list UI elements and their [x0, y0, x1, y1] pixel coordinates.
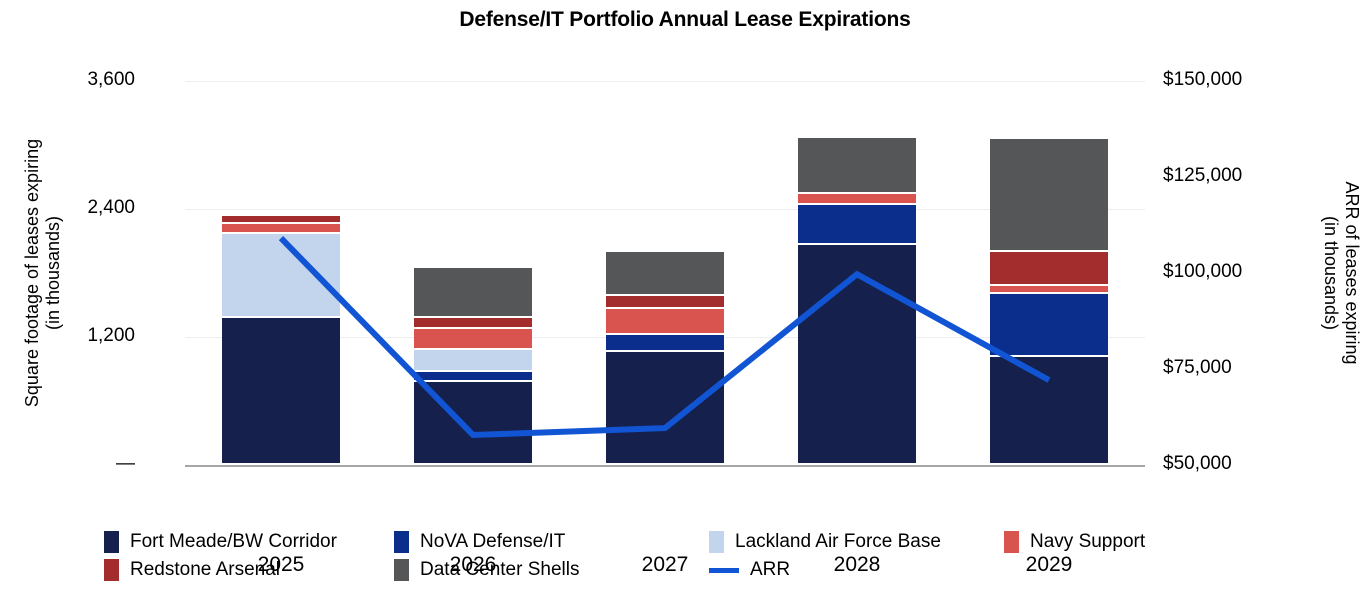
- legend-item[interactable]: Fort Meade/BW Corridor: [104, 528, 337, 556]
- legend-swatch-icon: [394, 559, 409, 581]
- y-axis-right-tick-label: $75,000: [1163, 357, 1303, 379]
- bar-group[interactable]: [990, 81, 1108, 465]
- bar-segment[interactable]: [414, 372, 532, 380]
- legend-row: Redstone ArsenalData Center ShellsARR: [104, 556, 1284, 584]
- bar-segment[interactable]: [222, 234, 340, 316]
- y-axis-left-title: Square footage of leases expiring(in tho…: [22, 123, 64, 423]
- legend-item-label: NoVA Defense/IT: [420, 531, 565, 553]
- x-axis-line: [185, 465, 1145, 467]
- legend-item[interactable]: Lackland Air Force Base: [709, 528, 941, 556]
- y-axis-right-tick-label: $50,000: [1163, 453, 1303, 475]
- bar-segment[interactable]: [798, 205, 916, 243]
- legend-line-icon: [709, 568, 739, 573]
- legend-item-label: Fort Meade/BW Corridor: [130, 531, 337, 553]
- bar-segment[interactable]: [990, 357, 1108, 463]
- bar-segment[interactable]: [414, 382, 532, 463]
- y-axis-right-title: ARR of leases expiring(in thousands): [1320, 123, 1362, 423]
- bar-segment[interactable]: [222, 216, 340, 222]
- bar-segment[interactable]: [798, 194, 916, 203]
- y-axis-left-tick-label: —: [15, 453, 135, 475]
- bar-segment[interactable]: [990, 286, 1108, 292]
- bar-segment[interactable]: [990, 252, 1108, 284]
- bar-segment[interactable]: [414, 318, 532, 327]
- legend-swatch-icon: [104, 559, 119, 581]
- legend-swatch-icon: [104, 531, 119, 553]
- legend-item-label: ARR: [750, 559, 790, 581]
- bar-segment[interactable]: [222, 224, 340, 232]
- legend-item-label: Data Center Shells: [420, 559, 579, 581]
- y-axis-left-tick-label: 3,600: [15, 69, 135, 91]
- bar-group[interactable]: [222, 81, 340, 465]
- legend-swatch-icon: [394, 531, 409, 553]
- bar-segment[interactable]: [414, 268, 532, 316]
- y-axis-right-tick-label: $125,000: [1163, 165, 1303, 187]
- bar-segment[interactable]: [606, 296, 724, 307]
- bar-group[interactable]: [798, 81, 916, 465]
- legend-row: Fort Meade/BW CorridorNoVA Defense/ITLac…: [104, 528, 1284, 556]
- bar-segment[interactable]: [990, 139, 1108, 250]
- y-axis-left-tick-label: 2,400: [15, 197, 135, 219]
- legend-item-label: Navy Support: [1030, 531, 1145, 553]
- legend-item[interactable]: Data Center Shells: [394, 556, 579, 584]
- legend-swatch-icon: [709, 531, 724, 553]
- bar-segment[interactable]: [414, 350, 532, 370]
- bar-segment[interactable]: [606, 352, 724, 463]
- bar-segment[interactable]: [606, 252, 724, 294]
- legend-swatch-icon: [1004, 531, 1019, 553]
- legend-item[interactable]: NoVA Defense/IT: [394, 528, 565, 556]
- bar-segment[interactable]: [414, 329, 532, 348]
- bar-group[interactable]: [414, 81, 532, 465]
- y-axis-right-tick-label: $150,000: [1163, 69, 1303, 91]
- bar-segment[interactable]: [990, 294, 1108, 355]
- y-axis-right-tick-label: $100,000: [1163, 261, 1303, 283]
- y-axis-left-tick-label: 1,200: [15, 325, 135, 347]
- legend-item-label: Redstone Arsenal: [130, 559, 280, 581]
- legend-item-label: Lackland Air Force Base: [735, 531, 941, 553]
- chart-canvas: Defense/IT Portfolio Annual Lease Expira…: [0, 0, 1370, 590]
- bar-segment[interactable]: [606, 335, 724, 350]
- chart-title: Defense/IT Portfolio Annual Lease Expira…: [0, 8, 1370, 32]
- legend-item[interactable]: Redstone Arsenal: [104, 556, 280, 584]
- legend-item[interactable]: Navy Support: [1004, 528, 1145, 556]
- bar-segment[interactable]: [222, 318, 340, 463]
- bar-segment[interactable]: [606, 309, 724, 333]
- bar-group[interactable]: [606, 81, 724, 465]
- chart-legend: Fort Meade/BW CorridorNoVA Defense/ITLac…: [104, 528, 1284, 584]
- bar-segment[interactable]: [798, 245, 916, 463]
- plot-area: 20252026202720282029: [185, 81, 1145, 465]
- bar-segment[interactable]: [798, 138, 916, 192]
- legend-item[interactable]: ARR: [709, 556, 790, 584]
